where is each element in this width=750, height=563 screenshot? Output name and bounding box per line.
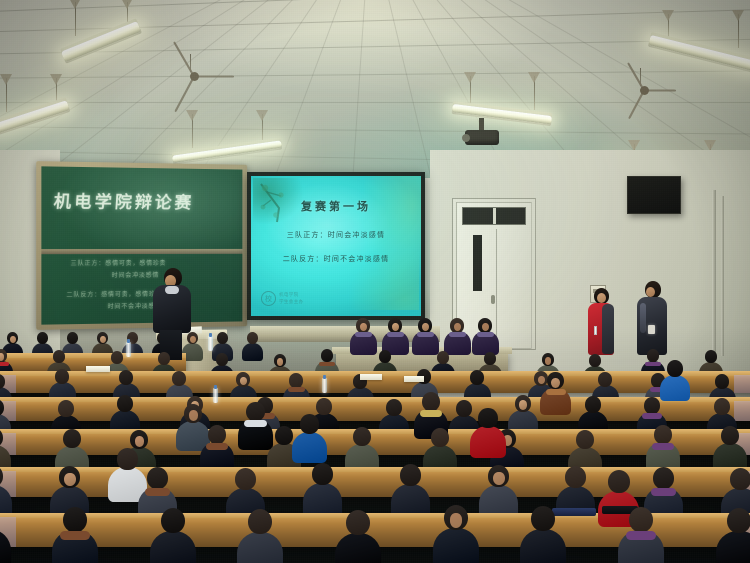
- audience-member: [391, 464, 430, 517]
- person-head: [379, 350, 392, 363]
- person-head: [727, 508, 750, 533]
- person-head: [147, 467, 168, 489]
- bench-end-panel: [734, 375, 750, 393]
- person-head: [208, 425, 226, 444]
- standing-face: [597, 293, 606, 303]
- person-head: [531, 506, 555, 531]
- water-bottle: [322, 378, 327, 393]
- slide-proposition-con: 二队反方：时间不会冲淡感情: [251, 254, 421, 264]
- desk-papers: [404, 376, 424, 382]
- person-head: [565, 466, 586, 488]
- person-head: [117, 448, 138, 470]
- person-head: [346, 510, 370, 535]
- person-head: [542, 353, 555, 366]
- person-head: [715, 374, 729, 389]
- person-head: [444, 505, 468, 530]
- audience-member: [242, 332, 263, 361]
- person-head: [644, 397, 660, 414]
- person-head: [130, 430, 148, 449]
- person-collar: [244, 420, 266, 427]
- person-face: [0, 353, 4, 361]
- person-head: [356, 318, 370, 333]
- person-face: [360, 323, 367, 332]
- door-glass-strip: [473, 235, 482, 291]
- person-head: [400, 464, 421, 486]
- person-collar: [387, 332, 404, 337]
- person-head: [161, 508, 185, 533]
- projector-body: [465, 130, 499, 145]
- person-head: [0, 428, 3, 447]
- person-collar: [642, 413, 661, 419]
- person-head: [7, 332, 18, 344]
- person-face: [422, 323, 429, 332]
- standing-face: [646, 287, 655, 297]
- person-head: [667, 360, 683, 377]
- person-head: [248, 509, 272, 534]
- person-head: [478, 318, 492, 333]
- person-head: [437, 351, 450, 364]
- person-face: [64, 473, 75, 486]
- ceiling-rod-cone: [662, 10, 674, 21]
- person-head: [705, 350, 718, 363]
- door-transom-window: [462, 207, 526, 225]
- person-collar: [477, 332, 494, 337]
- person-head: [63, 507, 87, 532]
- person-head: [59, 466, 80, 488]
- student-in-red-jacket: [586, 288, 616, 360]
- person-head: [653, 467, 674, 489]
- person-head: [235, 468, 256, 490]
- person-head: [184, 404, 202, 423]
- person-collar: [319, 362, 334, 367]
- blackboard: 机电学院辩论赛 三队正方：感情可贵，感情珍贵 时间会冲淡感情 二队反方：感情可贵…: [36, 161, 247, 330]
- person-collar: [355, 332, 372, 337]
- audience-member: [713, 426, 747, 472]
- person-head: [172, 371, 186, 386]
- audience-member: [200, 425, 234, 471]
- person-torso: [0, 529, 11, 563]
- slide-logo: 校 机电学院 学生会主办: [261, 291, 304, 306]
- person-torso: [716, 531, 750, 563]
- audience-member-red-jacket: [470, 408, 506, 457]
- person-head: [97, 332, 108, 344]
- audience-member: [150, 508, 196, 563]
- person-collar: [0, 362, 9, 367]
- person-head: [353, 427, 371, 446]
- audience-member: [520, 506, 566, 563]
- person-head: [629, 507, 653, 532]
- person-head: [386, 399, 402, 416]
- person-head: [422, 392, 440, 411]
- person-head: [0, 465, 3, 487]
- audience-member: [0, 506, 11, 563]
- person-head: [730, 468, 750, 490]
- person-head: [63, 429, 81, 448]
- debate-team-member: [350, 318, 377, 354]
- person-collar: [206, 443, 228, 450]
- person-face: [551, 378, 560, 388]
- person-head: [275, 426, 293, 445]
- person-head: [236, 372, 250, 387]
- water-bottle: [208, 336, 213, 351]
- jacket-dark-panel: [602, 304, 614, 354]
- desk-papers: [86, 366, 110, 372]
- person-head: [289, 373, 303, 388]
- person-collar: [288, 387, 305, 392]
- person-head: [547, 372, 564, 389]
- person-face: [392, 323, 399, 332]
- person-face: [100, 336, 106, 343]
- fan-hub: [190, 72, 199, 81]
- person-head: [119, 370, 133, 385]
- person-torso: [520, 529, 566, 563]
- debate-team-member: [382, 318, 409, 354]
- person-head: [321, 349, 334, 362]
- person-collar: [145, 488, 171, 496]
- phone-in-hand: [648, 325, 655, 334]
- audience-member: [237, 509, 283, 563]
- door-handle[interactable]: [491, 295, 495, 304]
- blackboard-divider: [41, 249, 242, 254]
- fan-hub: [640, 86, 649, 95]
- person-collar: [652, 443, 674, 450]
- audience-member: [618, 507, 664, 563]
- person-head: [654, 425, 672, 444]
- person-torso: [242, 343, 263, 362]
- person-face: [240, 377, 247, 386]
- person-torso: [237, 532, 283, 563]
- debate-team-member: [472, 318, 499, 354]
- person-torso: [150, 531, 196, 563]
- blackboard-line-1: 三队正方：感情可贵，感情珍贵: [71, 258, 167, 267]
- person-head: [217, 332, 228, 344]
- person-head: [117, 395, 133, 412]
- person-face: [450, 513, 463, 528]
- slide-logo-line1: 机电学院: [279, 292, 304, 299]
- slide-logo-text: 机电学院 学生会主办: [279, 292, 304, 306]
- person-head: [216, 353, 229, 366]
- person-head: [0, 374, 5, 389]
- person-head: [111, 351, 124, 364]
- person-head: [576, 430, 594, 449]
- projection-screen: 复赛第一场 三队正方：时间会冲淡感情 二队反方：时间不会冲淡感情 校 机电学院 …: [247, 172, 425, 320]
- person-collar: [651, 488, 677, 496]
- slide-proposition-pro: 三队正方：时间会冲淡感情: [251, 230, 421, 240]
- id-lanyard: [594, 326, 597, 335]
- ceiling-rod-cone: [186, 110, 198, 121]
- person-head: [714, 398, 730, 415]
- blackboard-line-3: 二队反方：感情可贵，感情珍贵: [66, 289, 162, 299]
- person-collar: [417, 332, 434, 337]
- person-head: [470, 370, 484, 385]
- blackboard-title: 机电学院辩论赛: [53, 187, 232, 214]
- person-head: [55, 369, 69, 384]
- person-head: [647, 349, 660, 362]
- person-collar: [449, 332, 466, 337]
- audience-member-brown-jacket: [540, 372, 571, 414]
- person-head: [418, 318, 432, 333]
- slide-logo-mark: 校: [261, 291, 276, 306]
- person-collar: [645, 362, 660, 367]
- audience-member: [479, 465, 518, 518]
- jacket-sleeve-stripe: [640, 303, 646, 333]
- audience-member: [646, 425, 680, 471]
- speaker-shirt-collar: [165, 286, 179, 294]
- person-collar: [60, 531, 89, 540]
- person-head: [488, 465, 509, 487]
- projector-lens: [462, 134, 470, 142]
- debater-at-lectern: [152, 268, 192, 360]
- person-head: [300, 414, 319, 434]
- person-head: [53, 350, 66, 363]
- person-head: [608, 470, 630, 493]
- audience-member: [716, 508, 750, 563]
- wall-speaker: [627, 176, 681, 214]
- person-head: [515, 395, 531, 412]
- audience-member: [335, 510, 381, 563]
- person-head: [316, 398, 332, 415]
- water-bottle: [213, 388, 218, 403]
- person-head: [450, 318, 464, 333]
- person-collar: [420, 410, 442, 417]
- audience-member-blue-top: [660, 360, 690, 400]
- ceiling-rod-cone: [528, 72, 540, 83]
- person-torso: [433, 528, 479, 563]
- audience-member: [303, 463, 342, 516]
- fan-blade: [194, 75, 234, 77]
- person-torso: [335, 533, 381, 563]
- person-head: [721, 426, 739, 445]
- slide-title: 复赛第一场: [251, 198, 421, 214]
- person-head: [484, 352, 497, 365]
- person-torso: [470, 426, 506, 458]
- person-head: [158, 352, 171, 365]
- ceiling-rod-cone: [732, 10, 744, 21]
- person-torso: [660, 375, 690, 401]
- projection-screen-surface: 复赛第一场 三队正方：时间会冲淡感情 二队反方：时间不会冲淡感情 校 机电学院 …: [251, 176, 421, 316]
- person-head: [589, 354, 602, 367]
- person-face: [482, 323, 489, 332]
- person-head: [585, 396, 601, 413]
- person-face: [519, 400, 527, 410]
- ceiling-rod-cone: [464, 72, 476, 83]
- person-head: [598, 372, 612, 387]
- person-face: [135, 436, 145, 447]
- desk-papers: [360, 374, 382, 380]
- slide-logo-line2: 学生会主办: [279, 299, 304, 306]
- ceiling-rod-cone: [121, 0, 133, 9]
- blackboard-surface: 机电学院辩论赛 三队正方：感情可贵，感情珍贵 时间会冲淡感情 二队反方：感情可贵…: [41, 166, 242, 324]
- ceiling-rod-cone: [50, 74, 62, 85]
- debate-team-member: [412, 318, 439, 354]
- lecture-hall-photo: 机电学院辩论赛 三队正方：感情可贵，感情珍贵 时间会冲淡感情 二队反方：感情可贵…: [0, 0, 750, 563]
- person-face: [454, 323, 461, 332]
- person-head: [388, 318, 402, 333]
- person-head: [431, 428, 449, 447]
- audience-member: [433, 505, 479, 563]
- person-face: [277, 358, 284, 366]
- debate-team-member: [444, 318, 471, 354]
- person-head: [274, 354, 287, 367]
- ceiling-rod-cone: [0, 74, 12, 85]
- person-head: [58, 400, 74, 417]
- person-head: [312, 463, 333, 485]
- person-collar: [546, 389, 566, 395]
- person-face: [10, 336, 16, 343]
- person-head: [0, 349, 7, 362]
- wall-pipe: [712, 190, 716, 360]
- person-head: [478, 408, 497, 428]
- person-head: [0, 399, 4, 416]
- person-head: [246, 402, 264, 421]
- person-face: [189, 410, 199, 421]
- person-collar: [626, 531, 655, 540]
- person-torso: [292, 432, 327, 463]
- person-head: [247, 332, 258, 344]
- ceiling-rod-cone: [256, 110, 268, 121]
- wall-pipe-secondary: [721, 196, 724, 356]
- audience-member: [52, 507, 98, 563]
- person-face: [545, 357, 552, 365]
- person-head: [67, 332, 78, 344]
- ceiling-rod-cone: [69, 0, 81, 9]
- audience-member-blue-hoodie: [292, 414, 327, 462]
- person-face: [493, 472, 504, 485]
- person-head: [37, 332, 48, 344]
